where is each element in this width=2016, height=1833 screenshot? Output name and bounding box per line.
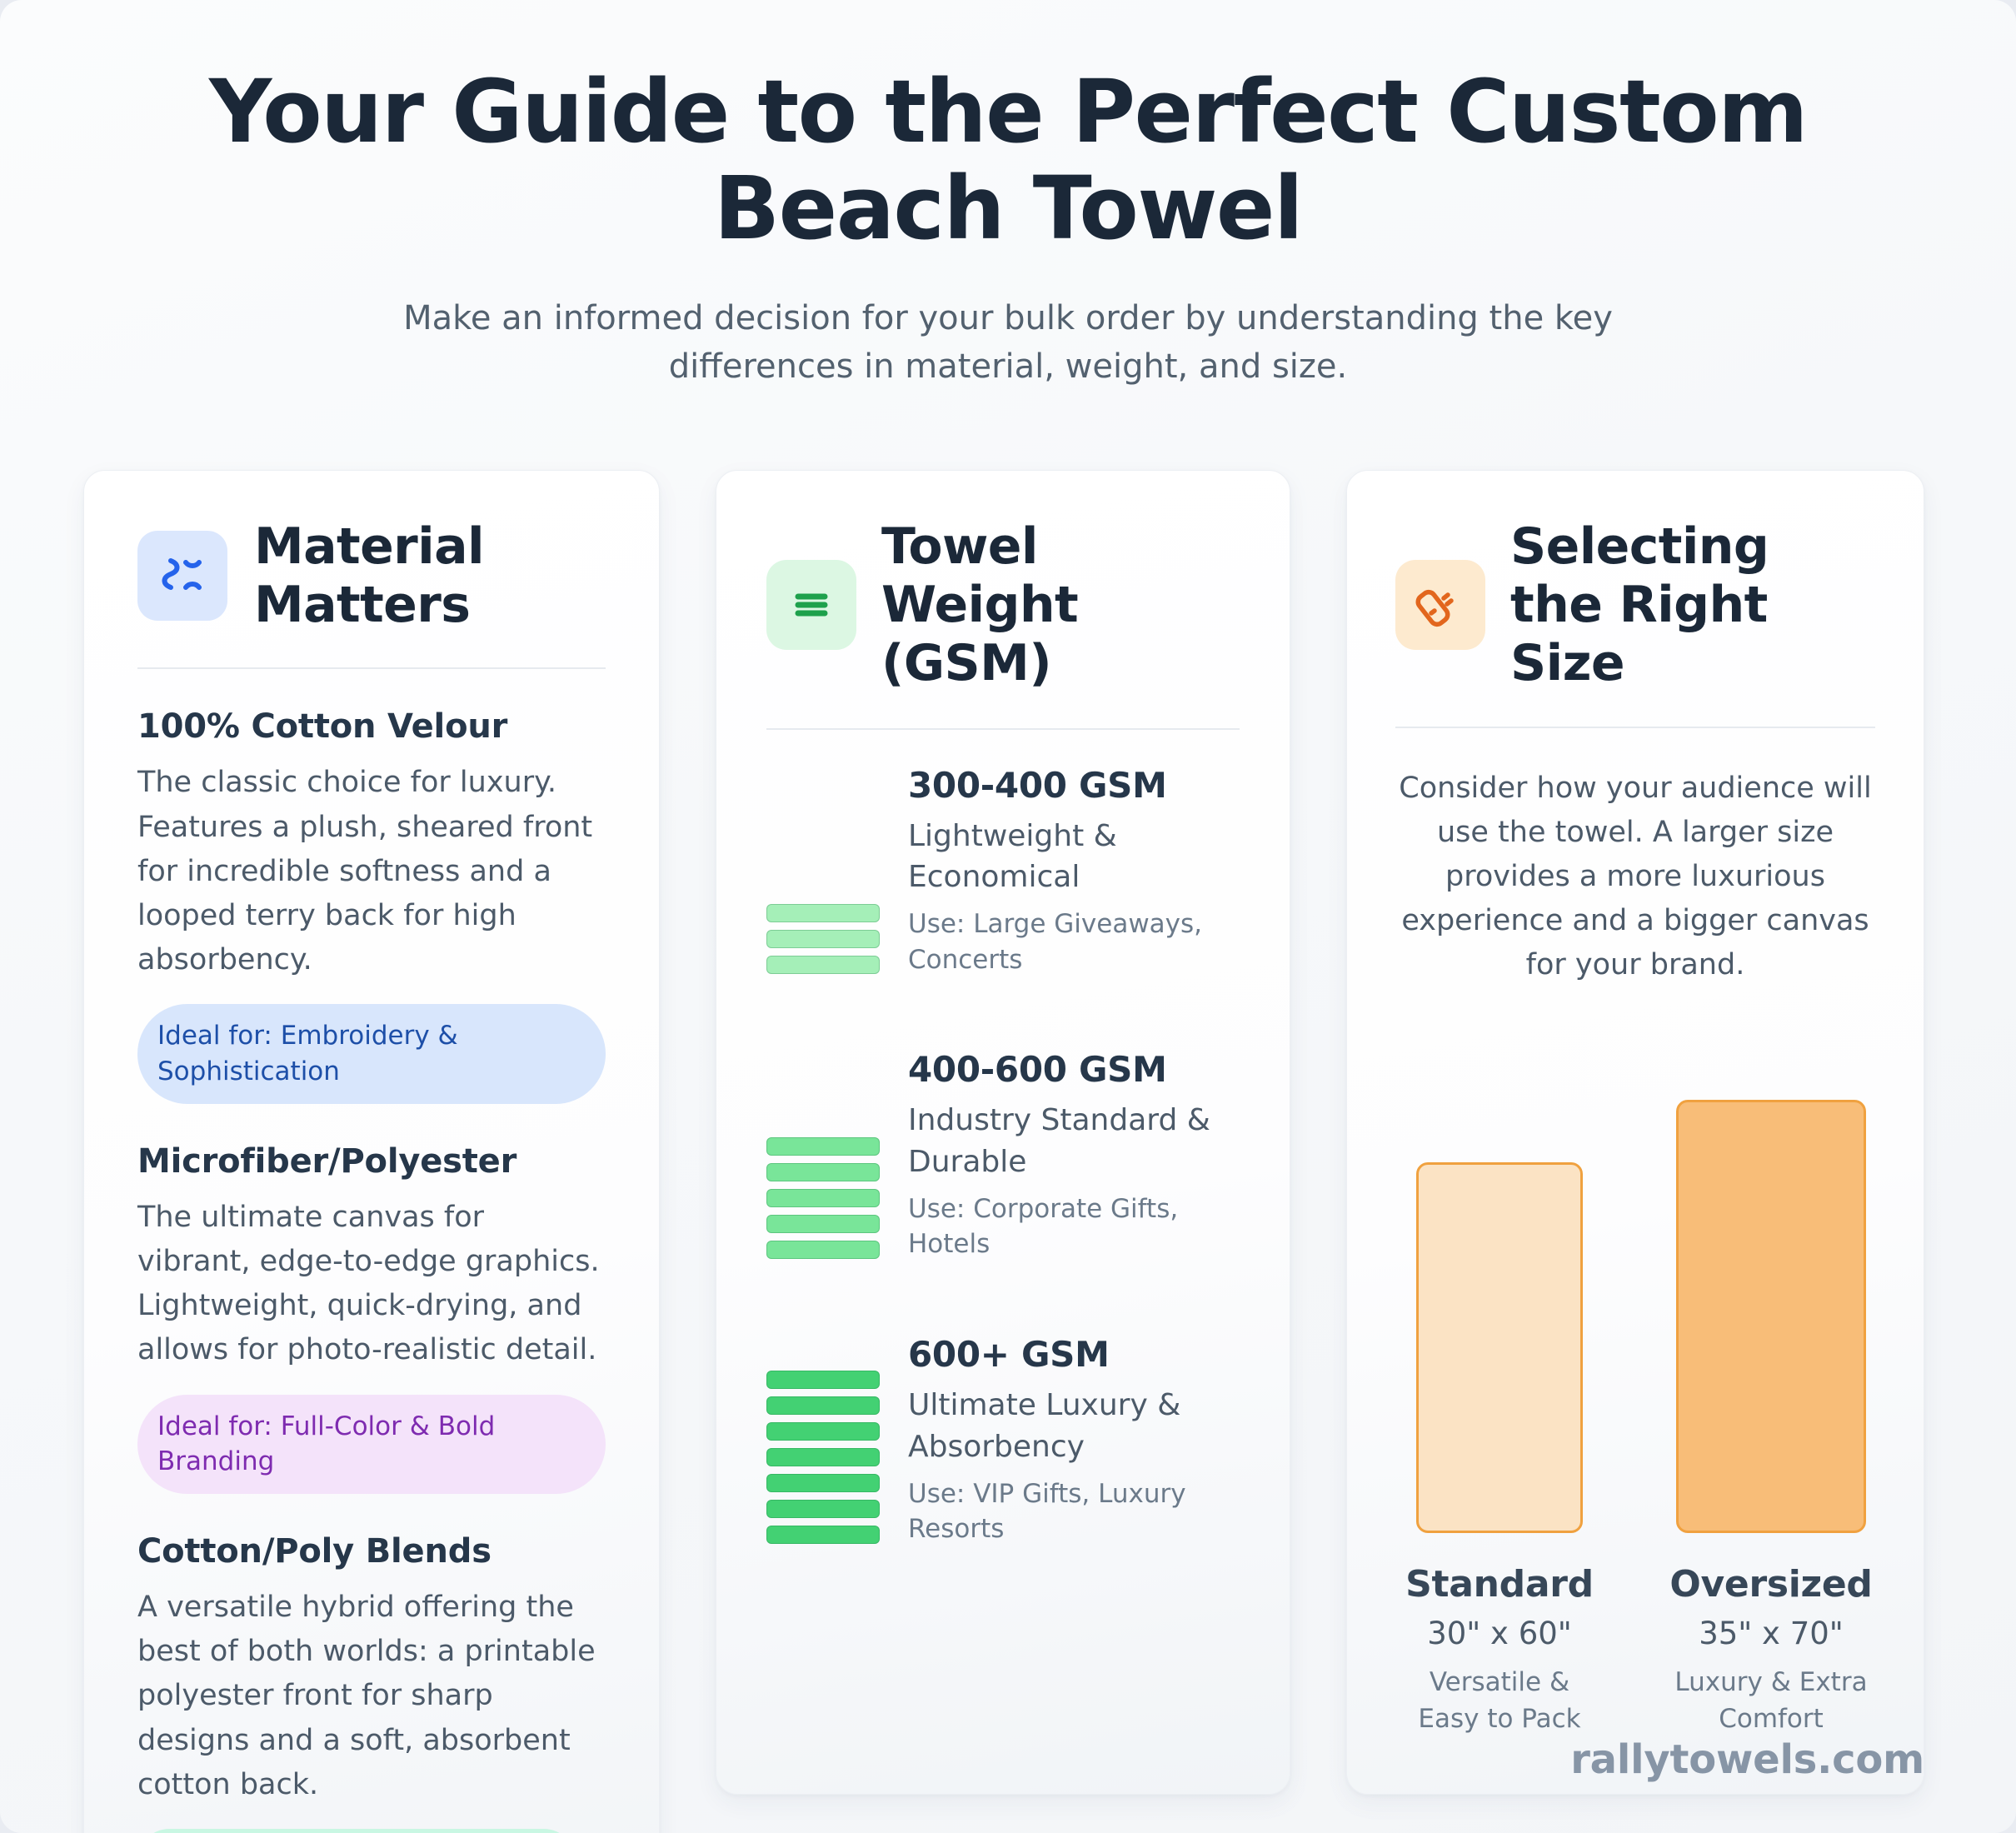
gsm-text-group: 300-400 GSM Lightweight & Economical Use… bbox=[908, 765, 1240, 980]
material-ideal-badge: Ideal for: Versatility & Function bbox=[137, 1829, 576, 1833]
card-towel-weight: Towel Weight (GSM) 300-400 GSM Lightweig… bbox=[716, 470, 1290, 1795]
material-description: A versatile hybrid offering the best of … bbox=[137, 1586, 606, 1807]
size-rect-standard bbox=[1416, 1162, 1583, 1533]
card-header-weight: Towel Weight (GSM) bbox=[766, 517, 1240, 693]
material-name: Microfiber/Polyester bbox=[137, 1142, 606, 1181]
size-option-oversized: Oversized 35" x 70" Luxury & Extra Comfo… bbox=[1667, 1100, 1875, 1737]
card-title-material: Material Matters bbox=[254, 517, 606, 634]
gsm-label: Industry Standard & Durable bbox=[908, 1100, 1240, 1182]
size-note: Luxury & Extra Comfort bbox=[1667, 1665, 1875, 1737]
material-ideal-badge: Ideal for: Full-Color & Bold Branding bbox=[137, 1395, 606, 1495]
card-header-material: Material Matters bbox=[137, 517, 606, 634]
size-name: Oversized bbox=[1669, 1563, 1872, 1606]
gsm-bar bbox=[766, 1526, 880, 1544]
gsm-bar bbox=[766, 1371, 880, 1389]
gsm-bar bbox=[766, 930, 880, 948]
gsm-text-group: 400-600 GSM Industry Standard & Durable … bbox=[908, 1049, 1240, 1264]
infographic-page: Your Guide to the Perfect Custom Beach T… bbox=[0, 0, 2016, 1833]
card-title-size: Selecting the Right Size bbox=[1510, 517, 1875, 693]
material-item: Microfiber/Polyester The ultimate canvas… bbox=[137, 1104, 606, 1494]
material-ideal-badge: Ideal for: Embroidery & Sophistication bbox=[137, 1004, 606, 1104]
gsm-bar bbox=[766, 1163, 880, 1181]
gsm-bar bbox=[766, 1396, 880, 1415]
stacked-lines-icon bbox=[766, 560, 856, 650]
gsm-text-group: 600+ GSM Ultimate Luxury & Absorbency Us… bbox=[908, 1334, 1240, 1549]
gsm-bar bbox=[766, 1474, 880, 1492]
gsm-bar-stack bbox=[766, 1371, 880, 1549]
gsm-range: 300-400 GSM bbox=[908, 765, 1240, 806]
card-header-size: Selecting the Right Size bbox=[1395, 517, 1875, 693]
gsm-bar bbox=[766, 1241, 880, 1259]
size-dimensions: 35" x 70" bbox=[1699, 1616, 1844, 1651]
ruler-icon bbox=[1395, 560, 1485, 650]
gsm-bar bbox=[766, 1189, 880, 1207]
page-header: Your Guide to the Perfect Custom Beach T… bbox=[0, 0, 2016, 391]
gsm-bar bbox=[766, 1422, 880, 1441]
gsm-bar bbox=[766, 956, 880, 974]
gsm-range: 600+ GSM bbox=[908, 1334, 1240, 1375]
gsm-level-list: 300-400 GSM Lightweight & Economical Use… bbox=[766, 730, 1240, 1550]
size-rect-oversized bbox=[1676, 1100, 1866, 1533]
material-description: The ultimate canvas for vibrant, edge-to… bbox=[137, 1196, 606, 1373]
material-item: 100% Cotton Velour The classic choice fo… bbox=[137, 669, 606, 1103]
gsm-label: Lightweight & Economical bbox=[908, 816, 1240, 898]
gsm-range: 400-600 GSM bbox=[908, 1049, 1240, 1090]
fabric-weave-icon bbox=[137, 531, 227, 621]
gsm-bar-stack bbox=[766, 904, 880, 979]
brand-footer: rallytowels.com bbox=[1570, 1736, 1924, 1783]
gsm-level-row: 300-400 GSM Lightweight & Economical Use… bbox=[766, 765, 1240, 980]
card-grid: Material Matters 100% Cotton Velour The … bbox=[0, 391, 2016, 1833]
page-title: Your Guide to the Perfect Custom Beach T… bbox=[167, 63, 1849, 257]
gsm-use: Use: Corporate Gifts, Hotels bbox=[908, 1191, 1240, 1263]
gsm-bar bbox=[766, 1137, 880, 1156]
gsm-use: Use: Large Giveaways, Concerts bbox=[908, 907, 1240, 978]
gsm-label: Ultimate Luxury & Absorbency bbox=[908, 1385, 1240, 1467]
page-subtitle: Make an informed decision for your bulk … bbox=[392, 294, 1624, 391]
gsm-level-row: 400-600 GSM Industry Standard & Durable … bbox=[766, 1049, 1240, 1264]
size-dimensions: 30" x 60" bbox=[1427, 1616, 1572, 1651]
size-note: Versatile & Easy to Pack bbox=[1395, 1665, 1604, 1737]
size-description: Consider how your audience will use the … bbox=[1395, 728, 1875, 988]
gsm-bar bbox=[766, 904, 880, 922]
gsm-bar bbox=[766, 1500, 880, 1518]
material-name: 100% Cotton Velour bbox=[137, 707, 606, 746]
gsm-level-row: 600+ GSM Ultimate Luxury & Absorbency Us… bbox=[766, 1334, 1240, 1549]
card-selecting-size: Selecting the Right Size Consider how yo… bbox=[1346, 470, 1924, 1795]
gsm-bar bbox=[766, 1215, 880, 1233]
gsm-bar-stack bbox=[766, 1137, 880, 1264]
size-name: Standard bbox=[1405, 1563, 1594, 1606]
card-material-matters: Material Matters 100% Cotton Velour The … bbox=[83, 470, 660, 1833]
gsm-use: Use: VIP Gifts, Luxury Resorts bbox=[908, 1476, 1240, 1548]
gsm-bar bbox=[766, 1448, 880, 1466]
card-title-weight: Towel Weight (GSM) bbox=[881, 517, 1240, 693]
size-option-standard: Standard 30" x 60" Versatile & Easy to P… bbox=[1395, 1162, 1604, 1737]
material-description: The classic choice for luxury. Features … bbox=[137, 761, 606, 982]
material-name: Cotton/Poly Blends bbox=[137, 1532, 606, 1571]
size-comparison-chart: Standard 30" x 60" Versatile & Easy to P… bbox=[1395, 1100, 1875, 1737]
material-item: Cotton/Poly Blends A versatile hybrid of… bbox=[137, 1494, 606, 1833]
